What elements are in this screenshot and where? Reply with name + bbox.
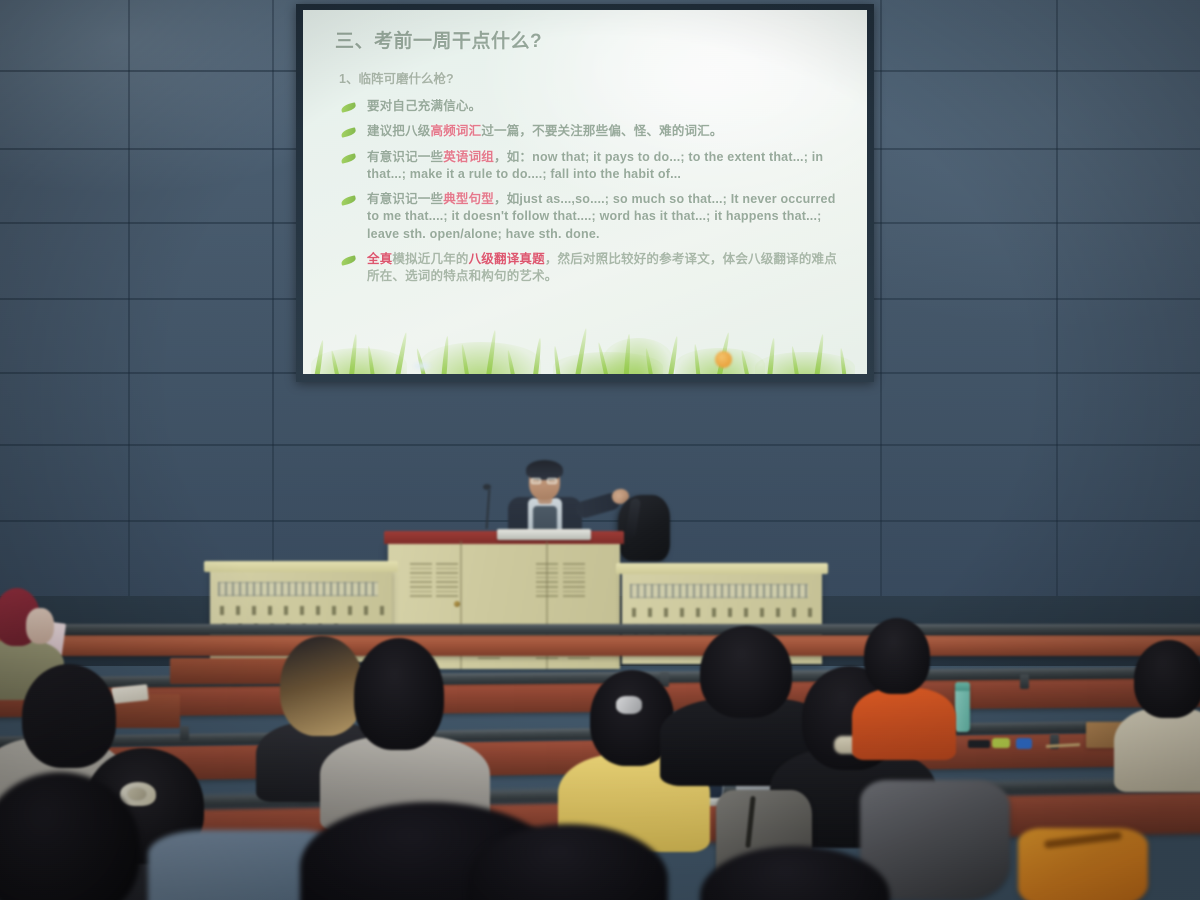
slide-subtitle: 1、临阵可磨什么枪? [339,68,454,87]
student-head [864,618,930,694]
bullet-sentence-patterns: 有意识记一些典型句型，如just as...,so....; so much s… [339,191,849,243]
bullet-text: 要对自己充满信心。 [367,98,849,115]
slide-title: 三、考前一周干点什么? [335,26,542,53]
thermos-cap [955,682,970,691]
plain-text: 建议把八级 [367,124,431,138]
bullet-text: 有意识记一些典型句型，如just as...,so....; so much s… [367,191,849,243]
lecturer-hair [526,460,563,480]
student-head [354,638,444,750]
student-head [22,664,116,768]
plain-text: 要对自己充满信心。 [367,99,481,113]
leaf-bullet-icon [340,102,356,112]
highlighted-term: 典型句型 [443,192,494,206]
projector-screen[interactable]: 三、考前一周干点什么? 1、临阵可磨什么枪? 要对自己充满信心。建议把八级高频词… [303,10,867,374]
green-item-on-desk [992,738,1010,748]
leaf-bullet-icon [340,255,356,265]
student-shoulders [852,688,956,760]
plain-text: 有意识记一些 [367,150,443,164]
side-desk-rail-right [630,584,808,598]
highlighted-term: 高频词汇 [431,124,482,138]
bullet-vocabulary: 建议把八级高频词汇过一篇，不要关注那些偏、怪、难的词汇。 [339,123,849,140]
slide-bullet-list: 要对自己充满信心。建议把八级高频词汇过一篇，不要关注那些偏、怪、难的词汇。有意识… [339,98,849,293]
student-head [700,626,792,718]
bullet-mock-translation: 全真模拟近几年的八级翻译真题，然后对照比较好的参考译文，体会八级翻译的难点所在、… [339,251,849,286]
bullet-text: 有意识记一些英语词组，如：now that; it pays to do...;… [367,149,849,184]
microphone-head [483,484,491,490]
podium-laptop[interactable] [497,529,591,540]
highlighted-term: 翻译真题 [494,252,545,266]
student-head [280,636,364,736]
leaf-bullet-icon [340,153,356,163]
phone-on-desk[interactable] [968,740,990,748]
plain-text: 过一篇，不要关注那些偏、怪、难的词汇。 [481,124,722,138]
grass-decoration [303,316,867,374]
student-head [1134,640,1200,718]
leaf-bullet-icon [340,195,356,205]
bullet-phrases: 有意识记一些英语词组，如：now that; it pays to do...;… [339,149,849,184]
highlighted-term: 英语词组 [443,150,494,164]
hair-clip-detail [128,788,146,800]
highlighted-term: 全真 [367,252,392,266]
bullet-text: 全真模拟近几年的八级翻译真题，然后对照比较好的参考译文，体会八级翻译的难点所在、… [367,251,849,286]
student-face [26,608,54,644]
thermos-bottle[interactable] [955,682,970,732]
leaf-bullet-icon [340,128,356,138]
bullet-text: 建议把八级高频词汇过一篇，不要关注那些偏、怪、难的词汇。 [367,123,849,140]
silver-hair-clip [616,696,642,714]
desk-bar-far [0,624,1200,635]
lecture-hall-photo: 三、考前一周干点什么? 1、临阵可磨什么枪? 要对自己充满信心。建议把八级高频词… [0,0,1200,900]
student-shoulders [1114,708,1200,792]
grass-white-dot [411,360,433,372]
glasses-icon [531,478,558,484]
plain-text: 模拟近几年的 [392,252,468,266]
plain-text: 有意识记一些 [367,192,443,206]
desk-row-far [0,634,1200,656]
side-desk-rail-left [218,582,378,596]
bullet-confidence: 要对自己充满信心。 [339,98,849,115]
grass-orange-dot [715,351,732,368]
highlighted-term: 八级 [469,252,494,266]
blue-item-on-desk [1016,738,1032,749]
